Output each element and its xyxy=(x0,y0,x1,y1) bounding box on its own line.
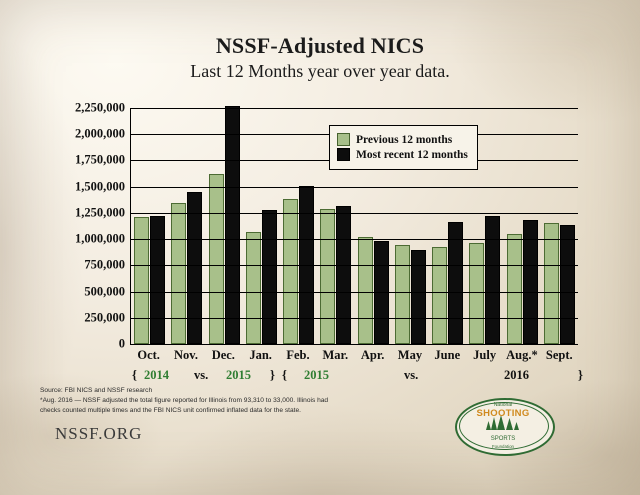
brace-open-1: { xyxy=(132,368,137,383)
x-axis-tick-label: July xyxy=(468,348,502,370)
bar-recent xyxy=(187,192,202,344)
x-axis-tick-label: Dec. xyxy=(206,348,240,370)
page-subtitle: Last 12 Months year over year data. xyxy=(0,62,640,82)
bar-group xyxy=(209,108,240,344)
bar-recent xyxy=(485,216,500,344)
bar-group xyxy=(134,108,165,344)
y-axis-tick-label: 500,000 xyxy=(84,284,125,299)
x-axis-tick-label: May xyxy=(393,348,427,370)
bar-previous xyxy=(320,209,335,344)
logo-mid-text-2: SPORTS xyxy=(455,436,551,442)
chart-gridline xyxy=(131,213,578,214)
year-2015-b: 2015 xyxy=(304,368,329,383)
bar-previous xyxy=(507,234,522,344)
bar-recent xyxy=(225,106,240,344)
bar-group xyxy=(246,108,277,344)
logo-bottom-text: Foundation xyxy=(455,444,551,449)
bar-recent xyxy=(336,206,351,344)
brace-close-2: } xyxy=(578,368,583,383)
bar-previous xyxy=(469,243,484,344)
year-2014: 2014 xyxy=(144,368,169,383)
x-axis-tick-label: Jan. xyxy=(244,348,278,370)
y-axis-tick-label: 1,750,000 xyxy=(75,153,125,168)
year-2015-a: 2015 xyxy=(226,368,251,383)
legend-item-previous: Previous 12 months xyxy=(337,133,468,146)
x-axis-tick-label: Feb. xyxy=(281,348,315,370)
vs-2: vs. xyxy=(404,368,418,383)
y-axis-tick-label: 2,250,000 xyxy=(75,101,125,116)
bar-group xyxy=(544,108,575,344)
bar-group xyxy=(283,108,314,344)
chart-gridline xyxy=(131,265,578,266)
bar-recent xyxy=(262,210,277,344)
legend-item-recent: Most recent 12 months xyxy=(337,148,468,161)
chart-gridline xyxy=(131,108,578,109)
vs-1: vs. xyxy=(194,368,208,383)
x-axis-tick-label: Sept. xyxy=(542,348,576,370)
chart-gridline xyxy=(131,239,578,240)
x-axis-tick-label: Apr. xyxy=(356,348,390,370)
note-line-3: checks counted multiple times and the FB… xyxy=(40,406,370,416)
bar-previous xyxy=(171,203,186,345)
logo-mid-text-1: SHOOTING xyxy=(455,409,551,419)
chart-gridline xyxy=(131,318,578,319)
legend-swatch-previous xyxy=(337,133,350,146)
brace-open-2: { xyxy=(282,368,287,383)
page-title: NSSF-Adjusted NICS xyxy=(0,34,640,58)
x-axis-tick-label: Oct. xyxy=(132,348,166,370)
x-axis-tick-label: Aug.* xyxy=(505,348,539,370)
y-axis-tick-label: 1,250,000 xyxy=(75,205,125,220)
legend-swatch-recent xyxy=(337,148,350,161)
note-source: Source: FBI NICS and NSSF research xyxy=(40,386,370,396)
year-2016: 2016 xyxy=(504,368,529,383)
bar-group xyxy=(507,108,538,344)
x-axis-tick-label: June xyxy=(430,348,464,370)
x-axis-tick-label: Mar. xyxy=(318,348,352,370)
chart-area: 0250,000500,000750,0001,000,0001,250,000… xyxy=(130,108,578,345)
bar-recent xyxy=(411,250,426,344)
note-line-2: *Aug. 2016 — NSSF adjusted the total fig… xyxy=(40,396,370,406)
chart-gridline xyxy=(131,344,578,345)
y-axis-tick-label: 750,000 xyxy=(84,258,125,273)
legend-label-previous: Previous 12 months xyxy=(356,134,452,146)
chart-x-axis: Oct.Nov.Dec.Jan.Feb.Mar.Apr.MayJuneJulyA… xyxy=(130,348,578,370)
x-axis-tick-label: Nov. xyxy=(169,348,203,370)
chart-gridline xyxy=(131,292,578,293)
bar-recent xyxy=(448,222,463,344)
bar-previous xyxy=(432,247,447,344)
slide: NSSF-Adjusted NICS Last 12 Months year o… xyxy=(0,0,640,495)
brace-close-1: } xyxy=(270,368,275,383)
bar-recent xyxy=(150,216,165,344)
bar-previous xyxy=(246,232,261,344)
footer-website: NSSF.ORG xyxy=(55,424,142,444)
year-band: { 2014 vs. 2015 } { 2015 vs. 2016 } xyxy=(122,368,592,386)
y-axis-tick-label: 0 xyxy=(119,337,125,352)
y-axis-tick-label: 2,000,000 xyxy=(75,127,125,142)
y-axis-tick-label: 1,500,000 xyxy=(75,179,125,194)
bar-previous xyxy=(544,223,559,344)
bar-previous xyxy=(134,217,149,344)
bar-previous xyxy=(358,237,373,344)
title-block: NSSF-Adjusted NICS Last 12 Months year o… xyxy=(0,34,640,82)
chart-legend: Previous 12 months Most recent 12 months xyxy=(329,125,478,170)
legend-label-recent: Most recent 12 months xyxy=(356,149,468,161)
bar-previous xyxy=(395,245,410,344)
bar-previous xyxy=(283,199,298,344)
bar-group xyxy=(171,108,202,344)
bar-recent xyxy=(560,225,575,344)
nssf-logo: National SHOOTING SPORTS Foundation xyxy=(455,392,551,458)
y-axis-tick-label: 1,000,000 xyxy=(75,232,125,247)
bar-recent xyxy=(374,241,389,344)
y-axis-tick-label: 250,000 xyxy=(84,310,125,325)
source-notes: Source: FBI NICS and NSSF research *Aug.… xyxy=(40,386,370,417)
chart-gridline xyxy=(131,187,578,188)
